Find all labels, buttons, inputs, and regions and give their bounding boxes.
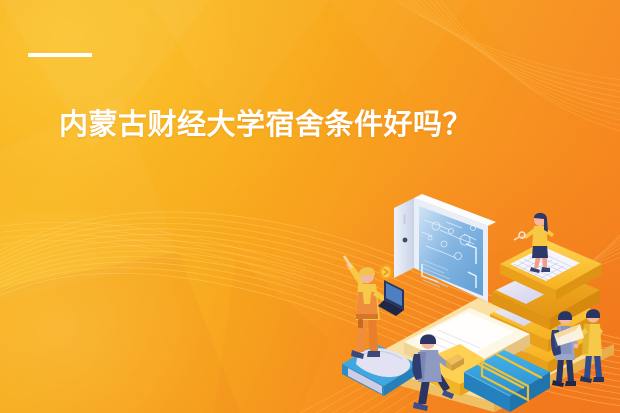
giant-smartphone <box>394 194 496 302</box>
coin-badge <box>379 264 393 280</box>
page-title: 内蒙古财经大学宿舍条件好吗？ <box>59 107 472 143</box>
isometric-study-illustration <box>318 168 620 413</box>
banner-image: 内蒙古财经大学宿舍条件好吗？ <box>0 0 620 413</box>
accent-rule <box>28 53 92 57</box>
phone-camera-dot <box>403 238 408 243</box>
